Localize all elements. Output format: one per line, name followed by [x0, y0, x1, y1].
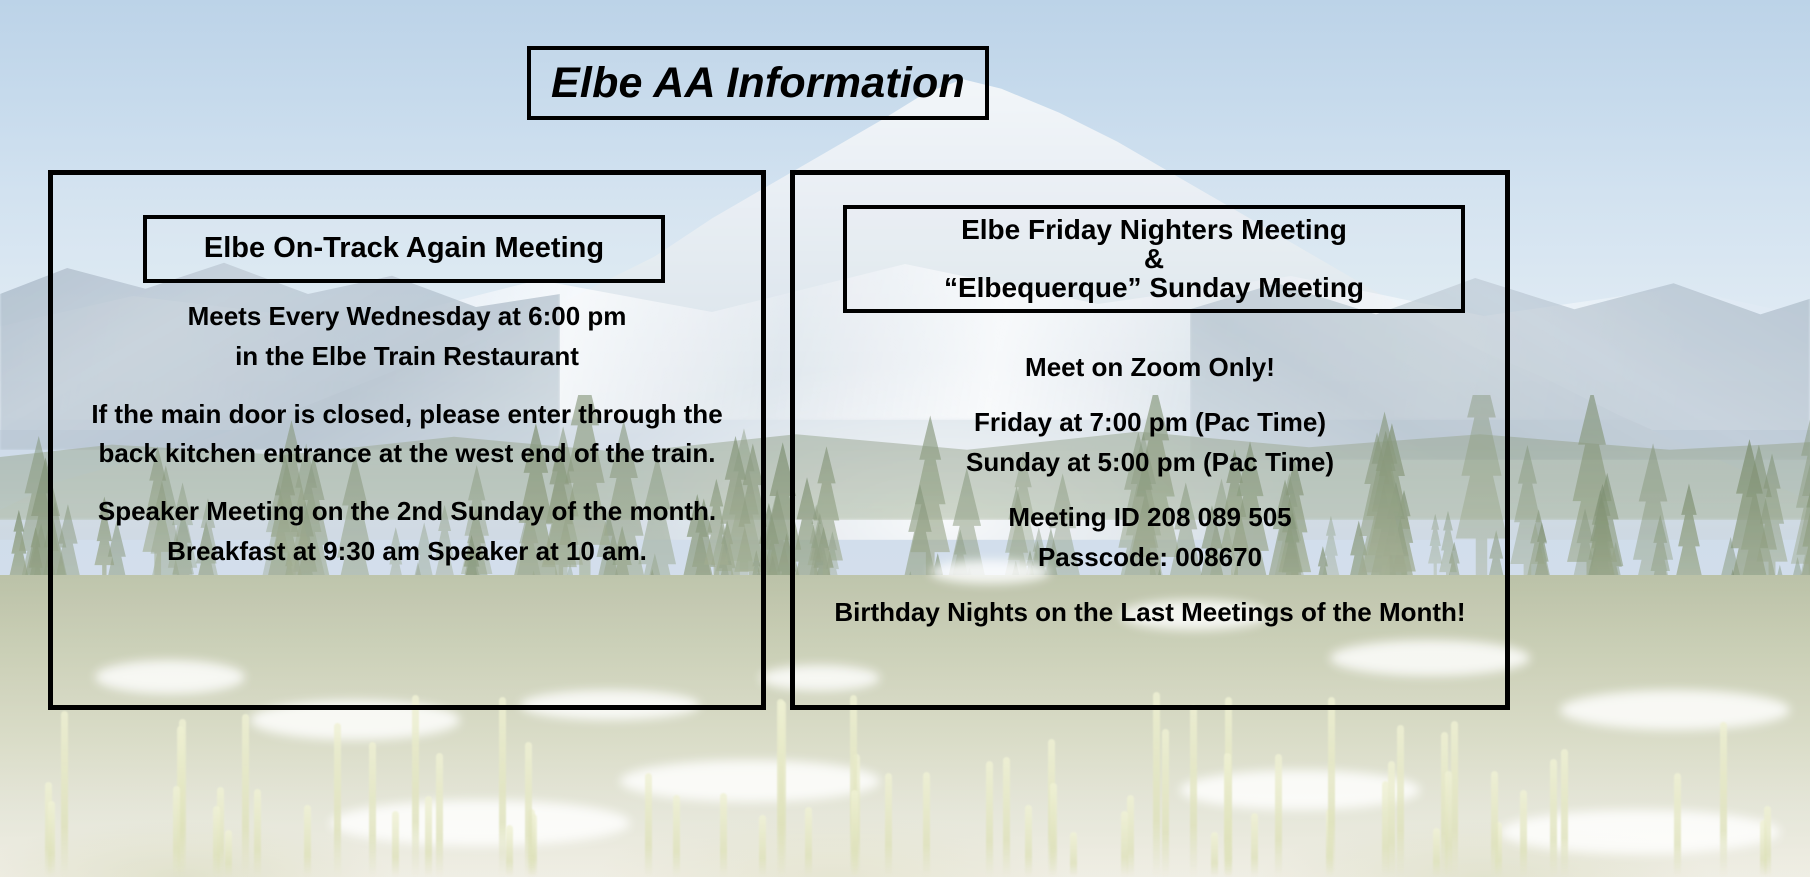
page-title: Elbe AA Information	[551, 62, 965, 105]
right-panel-header-box: Elbe Friday Nighters Meeting & “Elbequer…	[843, 205, 1465, 313]
right-meeting-panel: Elbe Friday Nighters Meeting & “Elbequer…	[790, 170, 1510, 710]
right-line-friday-time: Friday at 7:00 pm (Pac Time)	[795, 408, 1505, 437]
left-line-4: back kitchen entrance at the west end of…	[53, 440, 761, 468]
left-line-6: Breakfast at 9:30 am Speaker at 10 am.	[53, 538, 761, 566]
left-panel-header-box: Elbe On-Track Again Meeting	[143, 215, 665, 283]
spacer	[53, 468, 761, 498]
left-panel-body: Meets Every Wednesday at 6:00 pm in the …	[53, 303, 761, 566]
right-line-zoom-only: Meet on Zoom Only!	[795, 353, 1505, 382]
right-panel-body: Meet on Zoom Only! Friday at 7:00 pm (Pa…	[795, 353, 1505, 627]
spacer	[53, 371, 761, 401]
right-line-passcode: Passcode: 008670	[795, 543, 1505, 572]
spacer	[795, 477, 1505, 503]
right-panel-header-title-2: “Elbequerque” Sunday Meeting	[944, 273, 1364, 303]
right-line-sunday-time: Sunday at 5:00 pm (Pac Time)	[795, 448, 1505, 477]
left-meeting-panel: Elbe On-Track Again Meeting Meets Every …	[48, 170, 766, 710]
poster-canvas: Elbe AA Information Elbe On-Track Again …	[0, 0, 1810, 877]
spacer	[795, 572, 1505, 598]
right-panel-header-ampersand: &	[1144, 245, 1164, 273]
right-panel-header-title-1: Elbe Friday Nighters Meeting	[961, 215, 1347, 245]
poster-title-box: Elbe AA Information	[527, 46, 989, 120]
left-line-5: Speaker Meeting on the 2nd Sunday of the…	[53, 498, 761, 526]
left-line-2: in the Elbe Train Restaurant	[53, 343, 761, 371]
right-line-meeting-id: Meeting ID 208 089 505	[795, 503, 1505, 532]
left-line-3: If the main door is closed, please enter…	[53, 401, 761, 429]
right-line-birthday-nights: Birthday Nights on the Last Meetings of …	[795, 598, 1505, 627]
left-panel-header-title: Elbe On-Track Again Meeting	[204, 233, 604, 264]
spacer	[795, 382, 1505, 408]
left-line-1: Meets Every Wednesday at 6:00 pm	[53, 303, 761, 331]
